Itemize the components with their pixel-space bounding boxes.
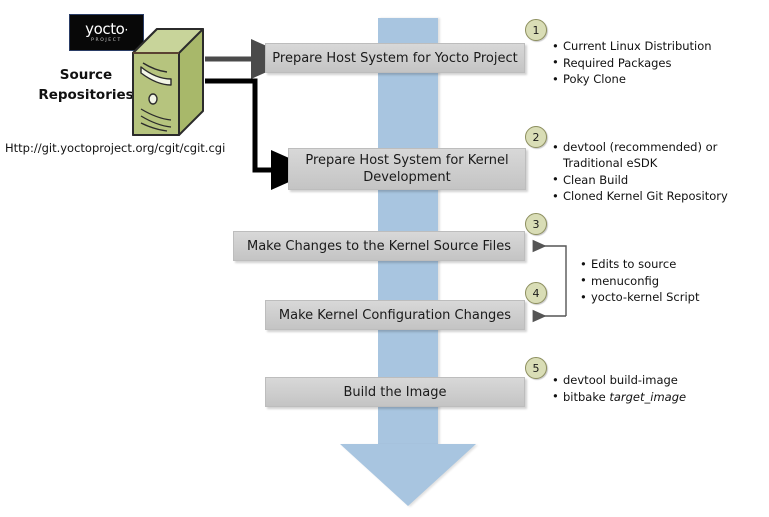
step-number-4: 4 [525, 282, 547, 304]
process-box-step-2[interactable]: Prepare Host System for Kernel Developme… [288, 148, 526, 190]
step-number-1: 1 [525, 19, 547, 41]
note-item: devtool (recommended) or Traditional eSD… [552, 139, 764, 171]
note-item: Cloned Kernel Git Repository [552, 188, 764, 204]
note-item-variable: target_image [609, 390, 686, 404]
process-box-step-5[interactable]: Build the Image [265, 377, 525, 407]
note-item: Clean Build [552, 172, 764, 188]
note-item: menuconfig [580, 273, 760, 289]
source-repositories-label: Source Repositories [26, 65, 146, 105]
note-item: yocto-kernel Script [580, 289, 760, 305]
logo-wordmark: yocto· [85, 22, 128, 37]
notes-step-2: devtool (recommended) or Traditional eSD… [552, 139, 764, 205]
source-label-line-2: Repositories [26, 85, 146, 105]
arrow-loop-to-step3 [534, 246, 566, 316]
arrow-server-to-step2 [205, 81, 276, 170]
diagram-canvas: yocto· PROJECT Source Repositories Http:… [0, 0, 769, 517]
logo-subtitle: PROJECT [91, 39, 122, 44]
process-box-step-3[interactable]: Make Changes to the Kernel Source Files [233, 231, 525, 261]
step-number-5: 5 [525, 357, 547, 379]
note-item: devtool build-image [552, 372, 752, 388]
server-tower-icon [131, 27, 205, 138]
note-item: bitbake target_image [552, 389, 752, 405]
logo-dot: · [124, 23, 127, 37]
note-item: Edits to source [580, 256, 760, 272]
step-number-2: 2 [525, 126, 547, 148]
source-label-line-1: Source [26, 65, 146, 85]
process-box-step-4[interactable]: Make Kernel Configuration Changes [265, 300, 525, 330]
step-number-3: 3 [525, 213, 547, 235]
notes-loop-steps-3-4: Edits to source menuconfig yocto-kernel … [580, 256, 760, 306]
logo-word-text: yocto [85, 20, 124, 38]
note-item: Poky Clone [552, 71, 762, 87]
process-box-step-1[interactable]: Prepare Host System for Yocto Project [265, 43, 525, 73]
note-item-prefix: bitbake [563, 390, 609, 404]
note-item: Required Packages [552, 55, 762, 71]
note-item: Current Linux Distribution [552, 38, 762, 54]
notes-step-1: Current Linux Distribution Required Pack… [552, 38, 762, 88]
notes-step-5: devtool build-image bitbake target_image [552, 372, 752, 405]
flow-arrowhead-icon [340, 444, 476, 506]
source-repository-url: Http://git.yoctoproject.org/cgit/cgit.cg… [5, 141, 225, 155]
